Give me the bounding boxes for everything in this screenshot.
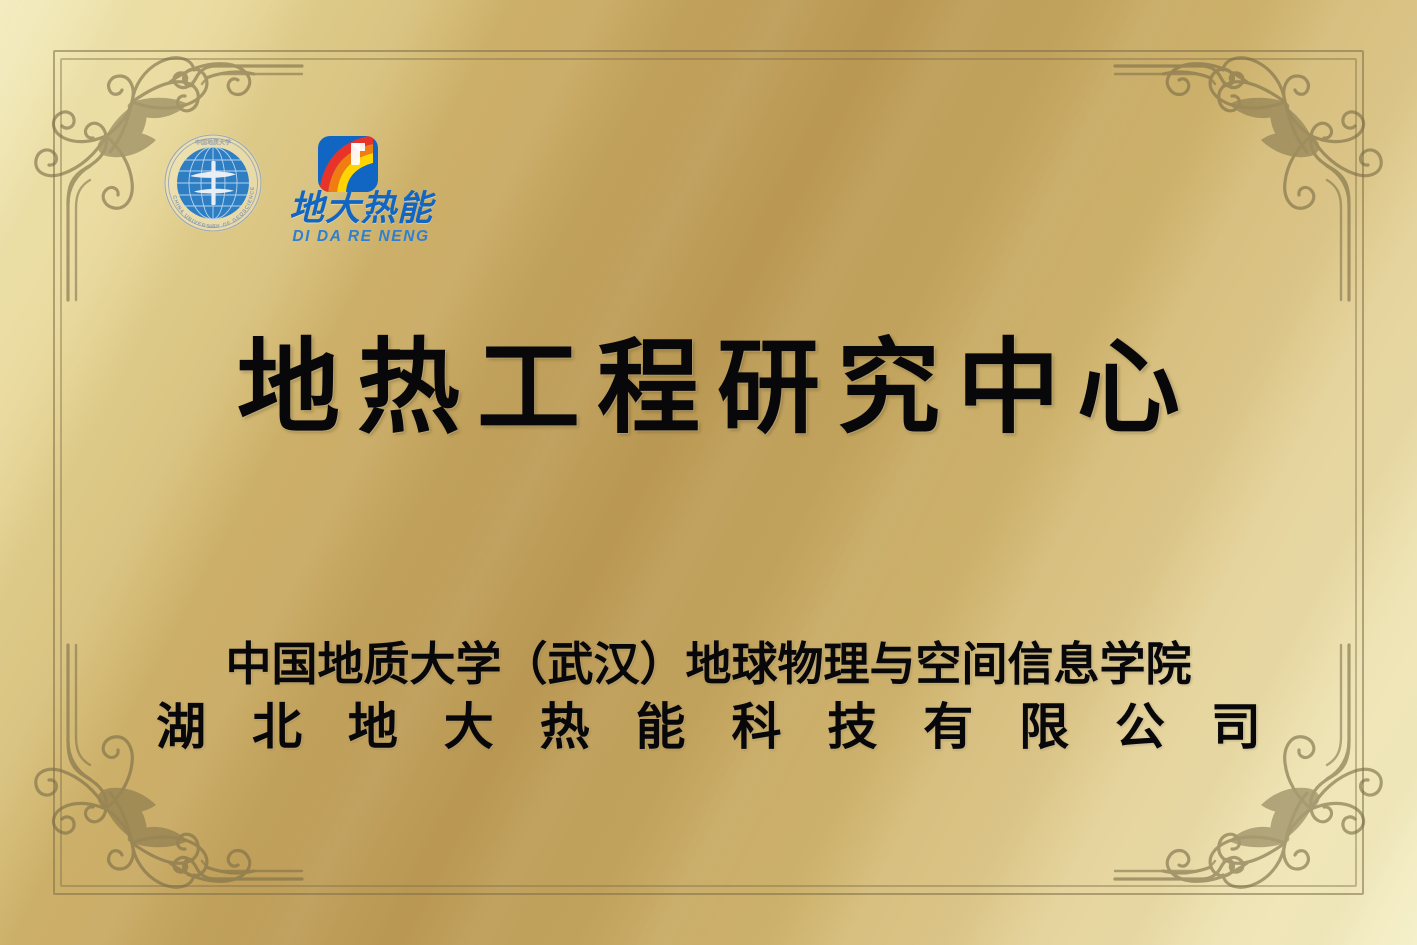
footer-line-company: 湖 北 地 大 热 能 科 技 有 限 公 司 <box>0 696 1417 759</box>
didareneng-mark-icon <box>317 135 379 193</box>
award-plaque: 中国地质大学 1952 CHINA UNIVERSITY OF GEOSCIEN… <box>0 0 1417 945</box>
footer-block: 中国地质大学（武汉）地球物理与空间信息学院 湖 北 地 大 热 能 科 技 有 … <box>0 636 1417 759</box>
page-title: 地热工程研究中心 <box>0 332 1417 443</box>
ornament-corner-top-right <box>1107 8 1407 308</box>
company-name-en: DI DA RE NENG <box>292 229 429 245</box>
china-university-of-geosciences-seal-icon: 中国地质大学 1952 CHINA UNIVERSITY OF GEOSCIEN… <box>163 133 263 233</box>
footer-line-university: 中国地质大学（武汉）地球物理与空间信息学院 <box>0 636 1417 692</box>
company-brand-block: 地大热能 DI DA RE NENG <box>289 133 433 245</box>
logo-row: 中国地质大学 1952 CHINA UNIVERSITY OF GEOSCIEN… <box>163 133 433 245</box>
svg-text:中国地质大学: 中国地质大学 <box>195 139 231 147</box>
company-name-cn: 地大热能 <box>289 191 433 226</box>
